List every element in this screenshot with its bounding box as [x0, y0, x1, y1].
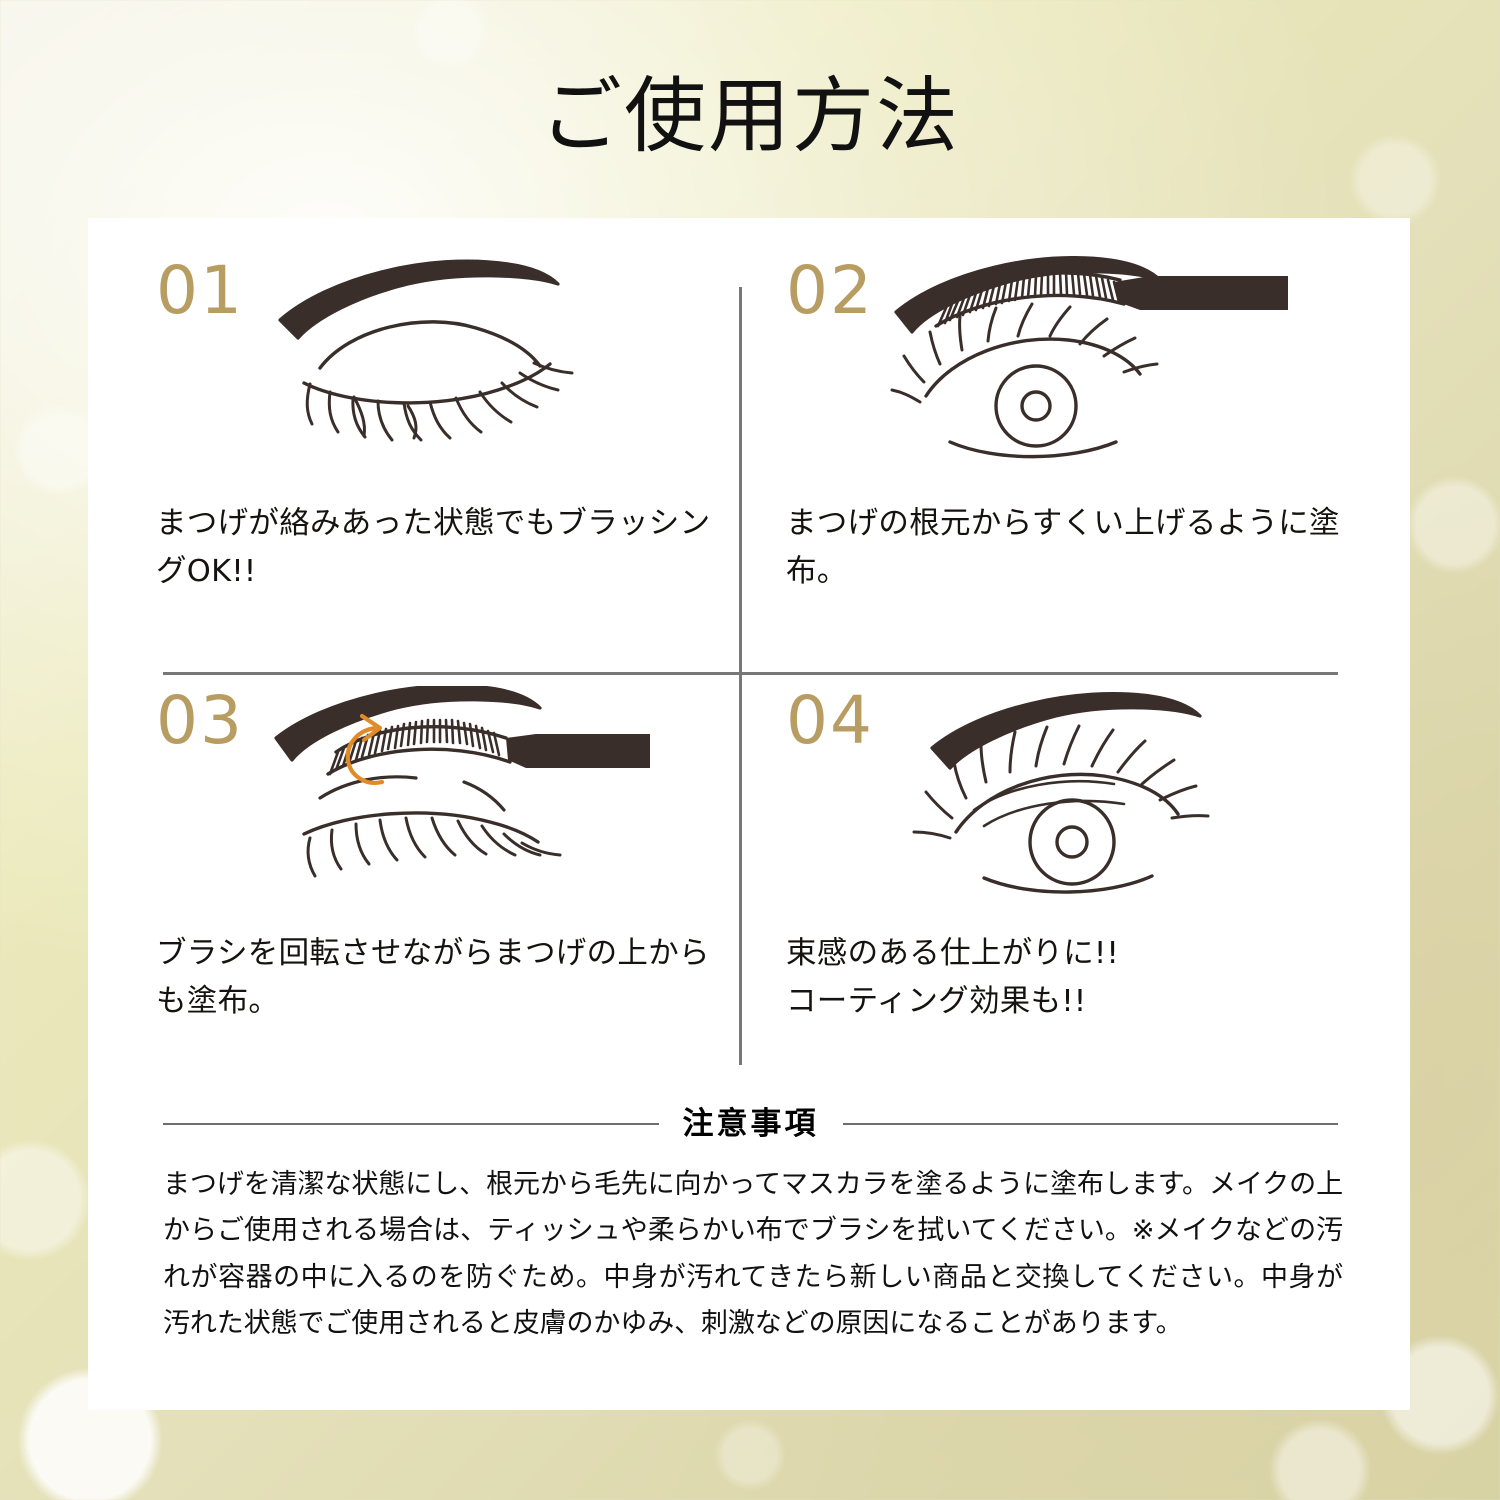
step-caption: まつげの根元からすくい上げるように塗布。 [786, 500, 1358, 596]
step-number: 03 [156, 688, 244, 754]
notes-heading: 注意事項 [683, 1109, 819, 1140]
step-number: 01 [156, 258, 244, 324]
finished-open-eye-icon [888, 686, 1308, 916]
instructions-card: 01 [88, 218, 1410, 1410]
notes-body: まつげを清潔な状態にし、根元から毛先に向かってマスカラを塗るように塗布します。メ… [163, 1162, 1343, 1348]
grid-divider-vertical [739, 287, 742, 1065]
grid-divider-horizontal [163, 672, 1338, 675]
mascara-wand-shape [506, 734, 650, 768]
mascara-wand-shape [1114, 276, 1288, 310]
step-caption: 束感のある仕上がりに!! コーティング効果も!! [786, 930, 1358, 1026]
notes-rule-right [843, 1123, 1339, 1125]
step-caption: ブラシを回転させながらまつげの上からも塗布。 [156, 930, 728, 1026]
notes-rule-left [163, 1123, 659, 1125]
eye-with-rotating-brush-icon [258, 686, 678, 916]
closed-eye-icon [258, 256, 678, 486]
open-eye-with-brush-icon [888, 256, 1308, 486]
step-number: 04 [786, 688, 874, 754]
notes-heading-row: 注意事項 [163, 1102, 1338, 1146]
page-title: ご使用方法 [0, 72, 1500, 162]
steps-grid: 01 [88, 218, 1410, 1078]
step-caption: まつげが絡みあった状態でもブラッシングOK!! [156, 500, 728, 596]
step-number: 02 [786, 258, 874, 324]
